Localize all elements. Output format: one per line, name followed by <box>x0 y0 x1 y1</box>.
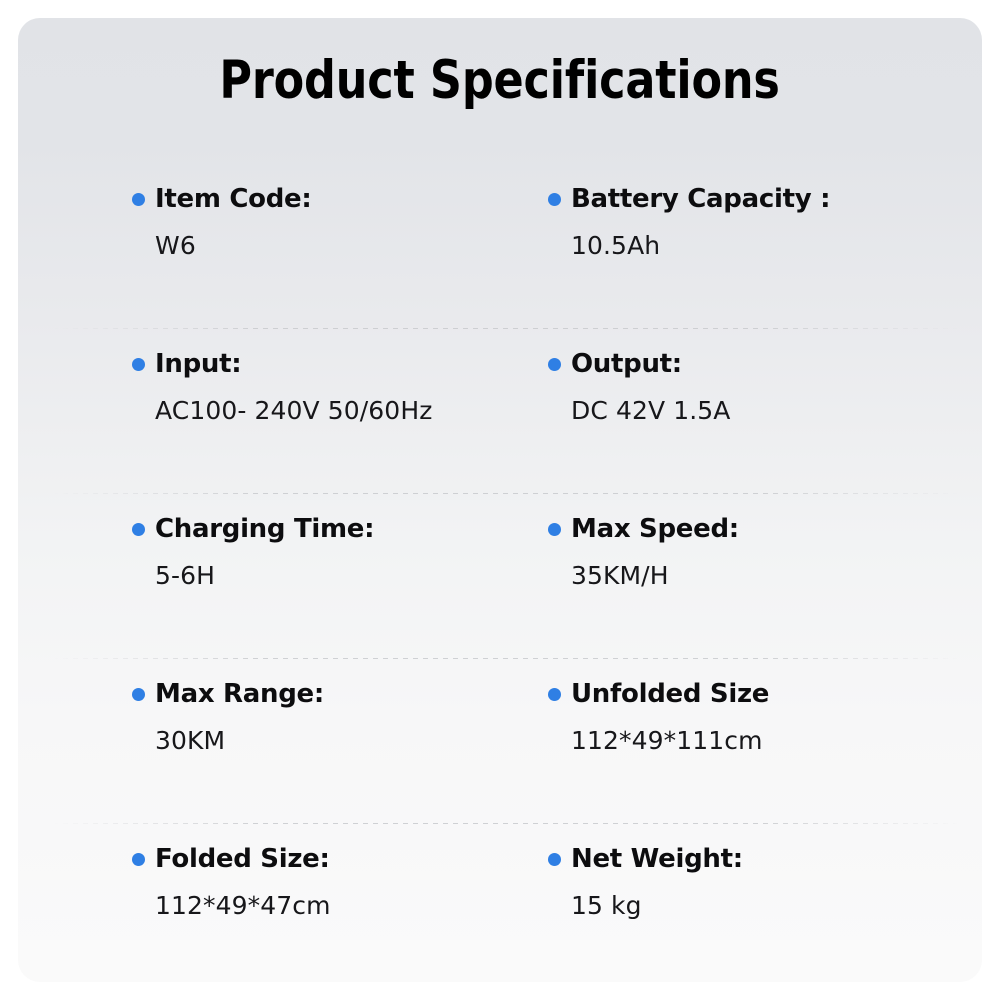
spec-label: Folded Size: <box>155 846 330 872</box>
spec-value: W6 <box>155 233 552 258</box>
spec-item-max-speed: Max Speed: 35KM/H <box>548 512 968 588</box>
spec-row: Item Code: W6 Battery Capacity : 10.5Ah <box>18 164 982 329</box>
bullet-icon <box>132 358 145 371</box>
spec-label: Charging Time: <box>155 516 374 542</box>
bullet-icon <box>132 688 145 701</box>
spec-item-unfolded-size: Unfolded Size 112*49*111cm <box>548 677 968 753</box>
spec-label: Unfolded Size <box>571 681 769 707</box>
spec-value: 30KM <box>155 728 552 753</box>
spec-value: AC100- 240V 50/60Hz <box>155 398 552 423</box>
bullet-icon <box>548 358 561 371</box>
spec-value: DC 42V 1.5A <box>571 398 968 423</box>
spec-label-line: Charging Time: <box>132 512 552 546</box>
spec-label: Item Code: <box>155 186 311 212</box>
bullet-icon <box>548 523 561 536</box>
spec-label: Max Speed: <box>571 516 739 542</box>
spec-label: Input: <box>155 351 241 377</box>
spec-row: Folded Size: 112*49*47cm Net Weight: 15 … <box>18 824 982 982</box>
spec-item-output: Output: DC 42V 1.5A <box>548 347 968 423</box>
spec-label-line: Output: <box>548 347 968 381</box>
spec-item-input: Input: AC100- 240V 50/60Hz <box>132 347 552 423</box>
bullet-icon <box>548 193 561 206</box>
spec-item-battery-capacity: Battery Capacity : 10.5Ah <box>548 182 968 258</box>
spec-value: 112*49*47cm <box>155 893 552 918</box>
product-specifications-card: Product Specifications Item Code: W6 Bat… <box>18 18 982 982</box>
spec-item-folded-size: Folded Size: 112*49*47cm <box>132 842 552 918</box>
bullet-icon <box>132 193 145 206</box>
spec-label: Max Range: <box>155 681 324 707</box>
spec-row: Max Range: 30KM Unfolded Size 112*49*111… <box>18 659 982 824</box>
bullet-icon <box>132 523 145 536</box>
bullet-icon <box>132 853 145 866</box>
spec-label-line: Net Weight: <box>548 842 968 876</box>
spec-label-line: Battery Capacity : <box>548 182 968 216</box>
spec-label-line: Unfolded Size <box>548 677 968 711</box>
spec-row: Charging Time: 5-6H Max Speed: 35KM/H <box>18 494 982 659</box>
spec-label-line: Item Code: <box>132 182 552 216</box>
spec-label-line: Max Speed: <box>548 512 968 546</box>
spec-item-max-range: Max Range: 30KM <box>132 677 552 753</box>
spec-label-line: Folded Size: <box>132 842 552 876</box>
spec-item-charging-time: Charging Time: 5-6H <box>132 512 552 588</box>
spec-label-line: Input: <box>132 347 552 381</box>
spec-value: 15 kg <box>571 893 968 918</box>
spec-value: 10.5Ah <box>571 233 968 258</box>
spec-value: 112*49*111cm <box>571 728 968 753</box>
spec-label: Battery Capacity : <box>571 186 830 212</box>
bullet-icon <box>548 688 561 701</box>
spec-item-net-weight: Net Weight: 15 kg <box>548 842 968 918</box>
spec-value: 5-6H <box>155 563 552 588</box>
spec-row: Input: AC100- 240V 50/60Hz Output: DC 42… <box>18 329 982 494</box>
spec-item-item-code: Item Code: W6 <box>132 182 552 258</box>
specifications-list: Item Code: W6 Battery Capacity : 10.5Ah … <box>18 164 982 982</box>
bullet-icon <box>548 853 561 866</box>
spec-value: 35KM/H <box>571 563 968 588</box>
title-block: Product Specifications <box>18 50 982 113</box>
spec-label-line: Max Range: <box>132 677 552 711</box>
spec-label: Net Weight: <box>571 846 743 872</box>
page-title: Product Specifications <box>220 50 780 113</box>
spec-label: Output: <box>571 351 682 377</box>
